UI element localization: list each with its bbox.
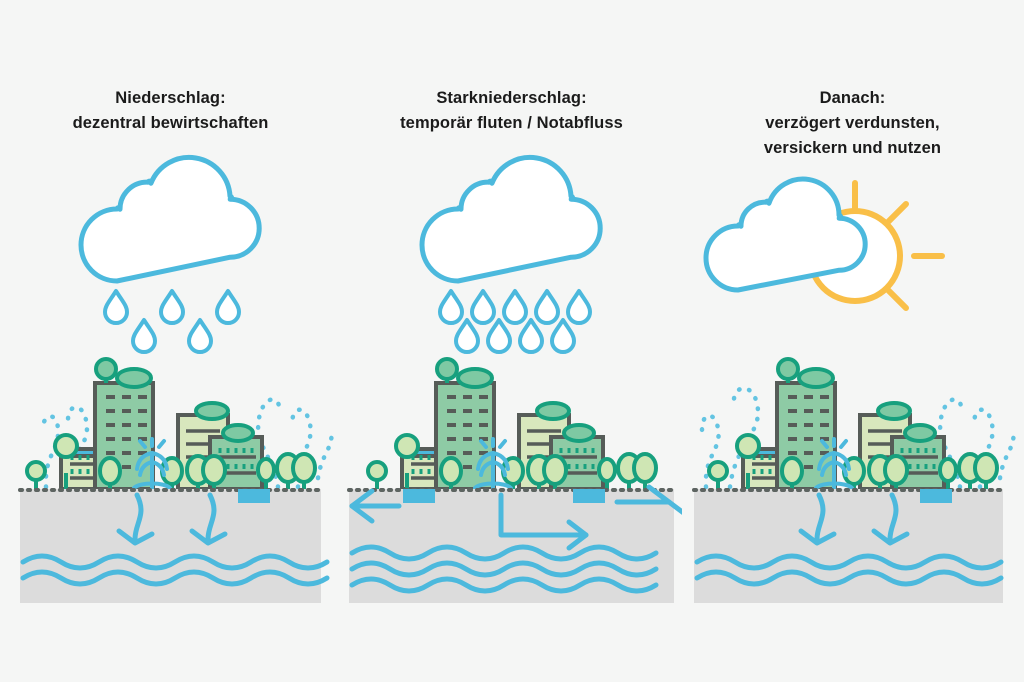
panel-after: Danach: verzögert verdunsten, versickern… bbox=[682, 0, 1023, 682]
cistern-icon bbox=[920, 489, 952, 503]
underground-section bbox=[20, 489, 321, 603]
tree-icon bbox=[27, 462, 45, 489]
panel-heavy-precipitation: Starkniederschlag: temporär fluten / Not… bbox=[341, 0, 682, 682]
cistern-icon bbox=[573, 489, 605, 503]
cistern-icon bbox=[403, 489, 435, 503]
roof-tree bbox=[96, 359, 151, 387]
panel-artwork bbox=[0, 0, 341, 682]
panel-precipitation: Niederschlag: dezentral bewirtschaften bbox=[0, 0, 341, 682]
panel-artwork bbox=[341, 0, 682, 682]
underground-section bbox=[694, 489, 1003, 603]
rain-cloud-icon bbox=[81, 157, 259, 281]
tree-icon bbox=[634, 454, 656, 489]
roof-tree bbox=[778, 359, 833, 387]
tree-icon bbox=[368, 462, 386, 489]
tree-icon bbox=[975, 454, 997, 489]
tree-icon bbox=[293, 454, 315, 489]
heavy-rain-cloud-icon bbox=[422, 157, 600, 281]
city-skyline bbox=[709, 359, 997, 489]
panel-artwork bbox=[682, 0, 1023, 682]
raindrop-group bbox=[105, 291, 239, 352]
tree-icon bbox=[709, 462, 727, 489]
city-skyline bbox=[368, 359, 656, 489]
raindrop-group bbox=[440, 291, 590, 352]
roof-tree bbox=[437, 359, 492, 387]
city-skyline bbox=[27, 359, 315, 489]
cistern-icon bbox=[238, 489, 270, 503]
infographic-stage: Niederschlag: dezentral bewirtschaften bbox=[0, 0, 1024, 682]
